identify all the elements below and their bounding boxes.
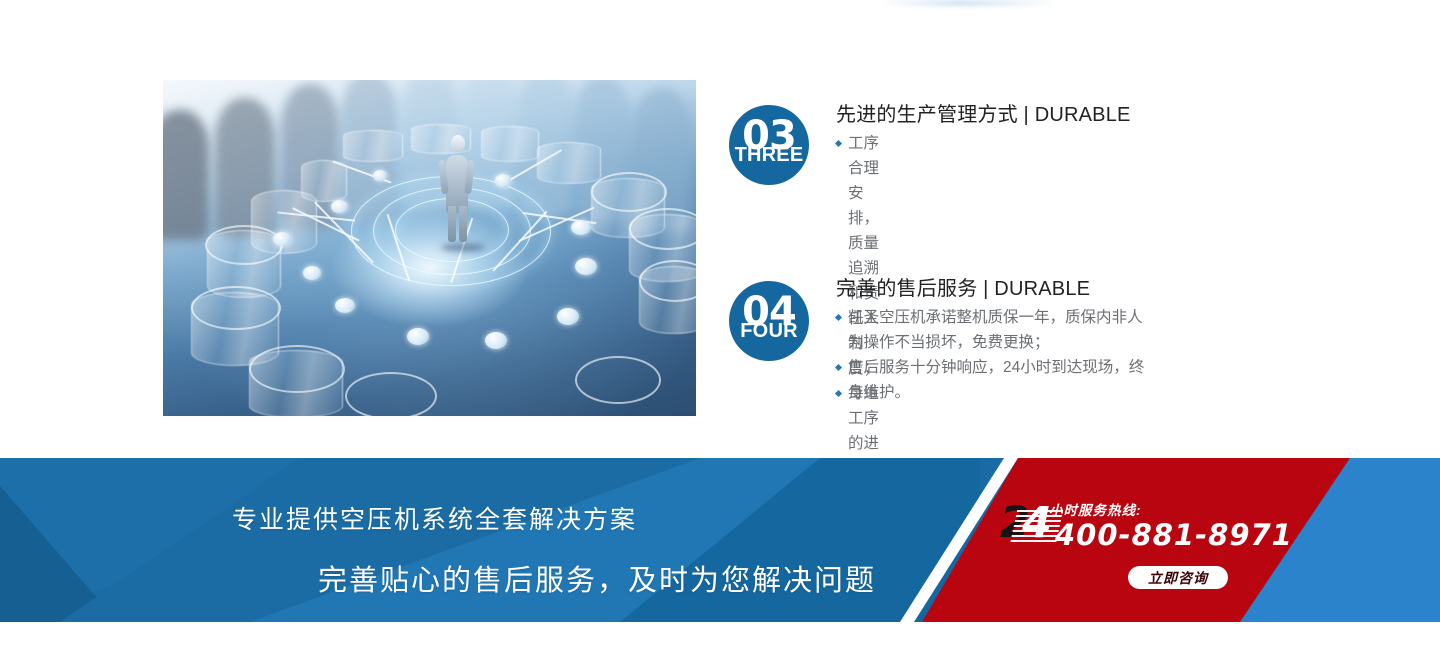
feature-title-03: 先进的生产管理方式 | DURABLE bbox=[836, 98, 1131, 127]
consult-now-label: 立即咨询 bbox=[1148, 568, 1208, 588]
bullet-continuation: 身维护。 bbox=[836, 380, 1236, 405]
consult-now-button[interactable]: 立即咨询 bbox=[1128, 566, 1228, 589]
bullet-item: 售后服务十分钟响应，24小时到达现场，终 bbox=[836, 355, 1236, 380]
hotline-label: 小时服务热线: bbox=[1049, 499, 1142, 519]
banner-slogan-line1: 专业提供空压机系统全套解决方案 bbox=[232, 500, 637, 536]
badge-03: 03 THREE bbox=[729, 105, 809, 185]
badge-04: 04 FOUR bbox=[729, 281, 809, 361]
hotline-number: 400-881-8971 bbox=[1055, 518, 1293, 552]
figure-head bbox=[451, 135, 465, 152]
bullet-item: 凯圣空压机承诺整机质保一年，质保内非人 bbox=[836, 305, 1236, 330]
feature-title-04: 完善的售后服务 | DURABLE bbox=[836, 272, 1090, 301]
figure-shadow bbox=[441, 243, 485, 252]
feature-bullets-04: 凯圣空压机承诺整机质保一年，质保内非人 为操作不当损坏，免费更换； 售后服务十分… bbox=[836, 305, 1236, 405]
banner-slogan-line2: 完善贴心的售后服务，及时为您解决问题 bbox=[318, 557, 876, 599]
badge-word: THREE bbox=[729, 145, 809, 165]
bullet-continuation: 为操作不当损坏，免费更换； bbox=[836, 330, 1236, 355]
badge-word: FOUR bbox=[729, 321, 809, 341]
hotline-digit-4: 4 bbox=[1022, 502, 1052, 545]
network-connection-illustration bbox=[163, 80, 696, 416]
top-cropped-remnant bbox=[880, 0, 1060, 6]
